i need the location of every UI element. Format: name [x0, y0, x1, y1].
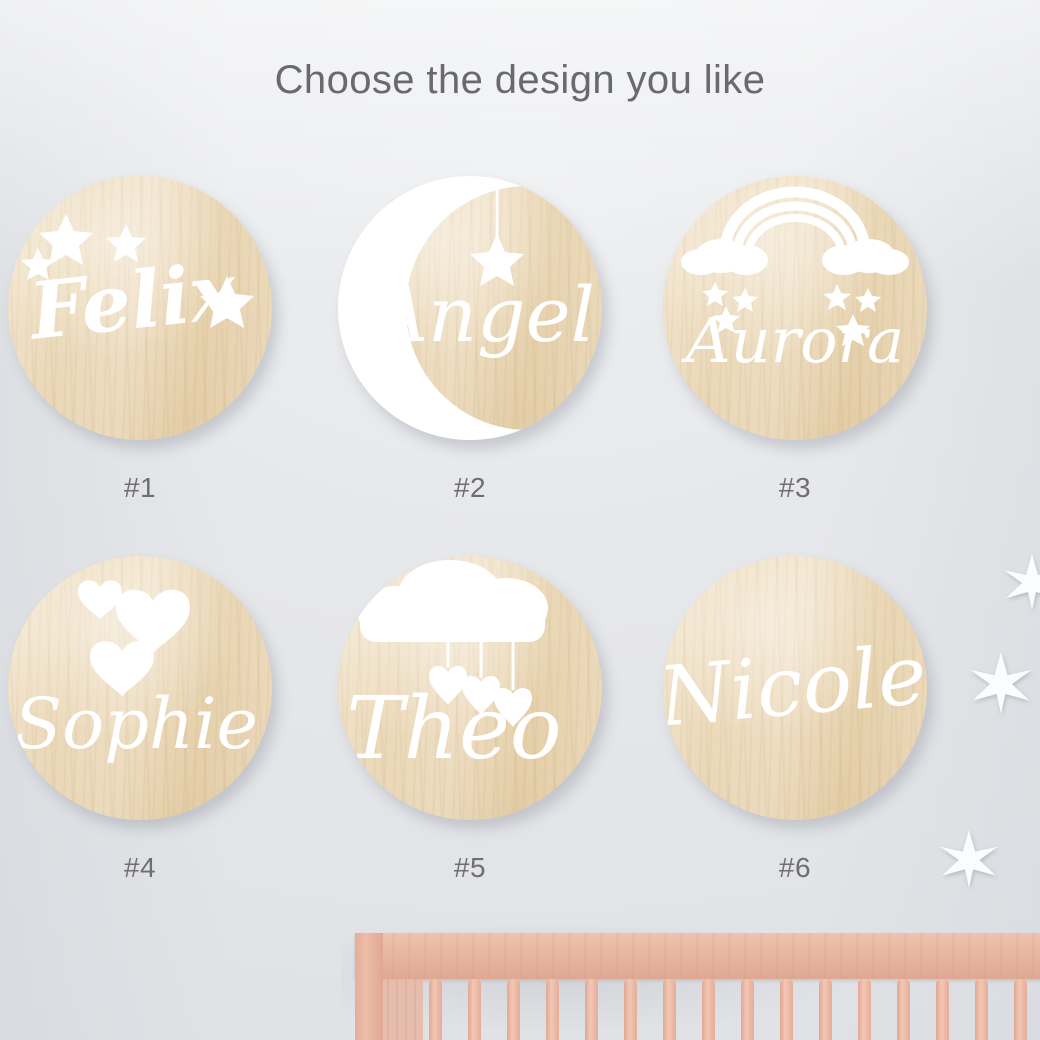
- wall-background: [0, 0, 1040, 1040]
- cloud-icon: [822, 239, 909, 275]
- design-caption: #4: [8, 852, 272, 884]
- crib-slat: [585, 979, 598, 1040]
- design-artwork-angel: Angel: [338, 176, 602, 440]
- design-artwork-sophie: Sophie: [8, 556, 272, 820]
- star-icon: [39, 214, 93, 265]
- wooden-disc[interactable]: Angel: [338, 176, 602, 440]
- star-icon: [702, 282, 728, 306]
- design-option-6[interactable]: Nicole #6: [663, 556, 927, 820]
- design-name-text: Felix: [24, 245, 242, 357]
- crib-slat: [897, 979, 910, 1040]
- design-caption: #1: [8, 472, 272, 504]
- design-name-text: Angel: [367, 270, 595, 359]
- design-option-3[interactable]: Aurora #3: [663, 176, 927, 440]
- star-decal-icon: [938, 828, 1000, 890]
- wooden-disc[interactable]: Aurora: [663, 176, 927, 440]
- wooden-disc[interactable]: Felix: [8, 176, 272, 440]
- crib-slat: [702, 979, 715, 1040]
- design-artwork-felix: Felix: [8, 176, 272, 440]
- page-title: Choose the design you like: [0, 58, 1040, 103]
- wooden-disc[interactable]: Nicole: [663, 556, 927, 820]
- crib-slat: [780, 979, 793, 1040]
- design-option-4[interactable]: Sophie #4: [8, 556, 272, 820]
- design-caption: #6: [663, 852, 927, 884]
- wooden-disc[interactable]: Theo: [338, 556, 602, 820]
- design-name-text: Aurora: [681, 304, 904, 377]
- heart-icon: [78, 580, 122, 619]
- design-name-text: Sophie: [14, 683, 258, 765]
- design-caption: #5: [338, 852, 602, 884]
- star-decal-icon: [1002, 552, 1040, 612]
- crib-slat: [1014, 979, 1027, 1040]
- crib-slat: [936, 979, 949, 1040]
- crib-slat: [546, 979, 559, 1040]
- design-name-text: Theo: [346, 679, 561, 779]
- crib-slat: [741, 979, 754, 1040]
- crib-slat: [429, 979, 442, 1040]
- design-caption: #3: [663, 472, 927, 504]
- wooden-disc[interactable]: Sophie: [8, 556, 272, 820]
- crib-slat: [975, 979, 988, 1040]
- crib-slat: [663, 979, 676, 1040]
- cloud-icon: [681, 239, 768, 275]
- design-name-text: Nicole: [663, 628, 927, 746]
- crib-furniture: [355, 933, 1040, 1040]
- crib-slat: [507, 979, 520, 1040]
- crib-corner-post: [355, 933, 383, 1040]
- product-preview-scene: Choose the design you like Felix #1: [0, 0, 1040, 1040]
- design-artwork-theo: Theo: [338, 556, 602, 820]
- design-option-1[interactable]: Felix #1: [8, 176, 272, 440]
- design-artwork-nicole: Nicole: [663, 556, 927, 820]
- star-decal-icon: [968, 650, 1034, 716]
- design-option-2[interactable]: Angel #2: [338, 176, 602, 440]
- heart-icon: [116, 590, 190, 653]
- crib-slat: [468, 979, 481, 1040]
- crib-top-rail: [355, 933, 1040, 979]
- crib-slat: [858, 979, 871, 1040]
- design-option-5[interactable]: Theo #5: [338, 556, 602, 820]
- design-artwork-aurora: Aurora: [663, 176, 927, 440]
- crib-slat: [624, 979, 637, 1040]
- crib-inner-panel: [383, 979, 423, 1040]
- design-caption: #2: [338, 472, 602, 504]
- crib-slat: [819, 979, 832, 1040]
- cloud-icon: [358, 560, 548, 642]
